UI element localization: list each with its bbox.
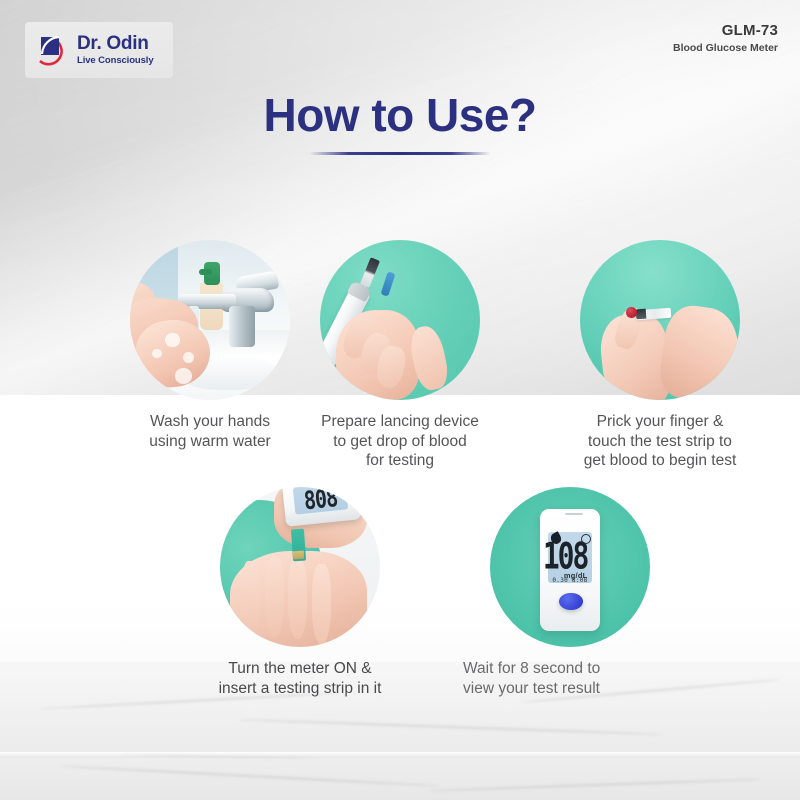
step-caption-5: Wait for 8 second to view your test resu… — [445, 659, 695, 698]
washing-hands-under-faucet-photo — [130, 240, 290, 400]
step-caption-3: Prick your finger & touch the test strip… — [545, 412, 775, 471]
logo-name: Dr. Odin — [77, 34, 154, 53]
step-item-3: Prick your finger & touch the test strip… — [545, 240, 775, 471]
step-item-4: 808 Turn the meter ON & insert a testing… — [170, 487, 430, 698]
product-description: Blood Glucose Meter — [673, 42, 778, 54]
logo-tagline: Live Consciously — [77, 56, 154, 66]
step-caption-2: Prepare lancing device to get drop of bl… — [295, 412, 505, 471]
marble-counter-front — [0, 758, 800, 800]
meter-power-button[interactable] — [559, 593, 583, 611]
odin-circle-square-logo-icon — [33, 31, 71, 69]
product-identifier: GLM-73 Blood Glucose Meter — [673, 22, 778, 54]
meter-display-value-step4: 808 — [302, 487, 338, 516]
meter-timestamp: 0.30 8:08 — [548, 577, 593, 584]
hand-holding-lancing-device-photo — [320, 240, 480, 400]
infographic-page: Dr. Odin Live Consciously GLM-73 Blood G… — [0, 0, 800, 800]
meter-reading-value: 108 — [543, 541, 588, 572]
finger-blood-drop-test-strip-photo — [580, 240, 740, 400]
step-item-5: 108 mg/dL 0.30 8:08 Wait for 8 second to… — [445, 487, 695, 698]
page-title: How to Use? — [0, 88, 800, 142]
product-code: GLM-73 — [673, 22, 778, 39]
glucose-meter-showing-result-photo: 108 mg/dL 0.30 8:08 — [490, 487, 650, 647]
hand-holding-meter-with-strip-photo: 808 — [220, 487, 380, 647]
brand-logo: Dr. Odin Live Consciously — [25, 22, 173, 78]
step-caption-4: Turn the meter ON & insert a testing str… — [170, 659, 430, 698]
step-item-2: Prepare lancing device to get drop of bl… — [295, 240, 505, 471]
title-underline — [309, 152, 491, 155]
